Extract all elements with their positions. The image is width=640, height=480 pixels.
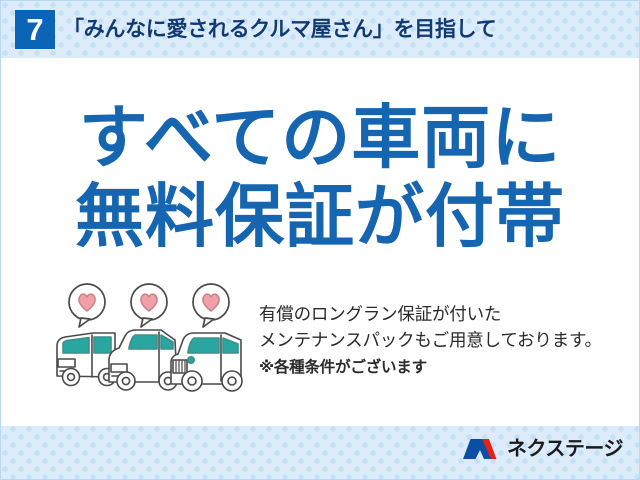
speech-bubble-1 bbox=[69, 284, 105, 327]
vehicles-illustration bbox=[49, 280, 249, 398]
banner-header: 7 「みんなに愛されるクルマ屋さん」を目指して bbox=[1, 1, 640, 58]
lower-content: 有償のロングラン保証が付いた メンテナンスパックもご用意しております。 ※各種条… bbox=[1, 280, 639, 420]
body-line-2: メンテナンスパックもご用意しております。 bbox=[259, 328, 631, 354]
speech-bubble-2 bbox=[131, 284, 167, 327]
nextage-n-mark-icon bbox=[461, 436, 499, 462]
speech-bubble-3 bbox=[193, 284, 229, 327]
vehicle-suv bbox=[171, 333, 242, 391]
main-headline: すべての車両に 無料保証が付帯 bbox=[1, 98, 639, 256]
vehicle-minivan bbox=[109, 330, 177, 390]
vehicle-kei-van bbox=[57, 333, 116, 386]
advertisement-banner: 7 「みんなに愛されるクルマ屋さん」を目指して すべての車両に 無料保証が付帯 bbox=[0, 0, 640, 480]
content-card: すべての車両に 無料保証が付帯 bbox=[1, 58, 639, 426]
banner-footer: ネクステージ bbox=[1, 426, 639, 479]
body-copy: 有償のロングラン保証が付いた メンテナンスパックもご用意しております。 ※各種条… bbox=[259, 302, 631, 380]
headline-line-1: すべての車両に bbox=[1, 98, 639, 177]
section-number-badge: 7 bbox=[15, 10, 55, 49]
nextage-logo: ネクステージ bbox=[461, 434, 623, 464]
nextage-logo-text: ネクステージ bbox=[507, 436, 623, 462]
headline-line-2: 無料保証が付帯 bbox=[1, 177, 639, 256]
header-tagline: 「みんなに愛されるクルマ屋さん」を目指して bbox=[63, 13, 623, 47]
vehicles-svg bbox=[49, 280, 249, 398]
body-note: ※各種条件がございます bbox=[259, 355, 631, 380]
body-line-1: 有償のロングラン保証が付いた bbox=[259, 302, 631, 328]
